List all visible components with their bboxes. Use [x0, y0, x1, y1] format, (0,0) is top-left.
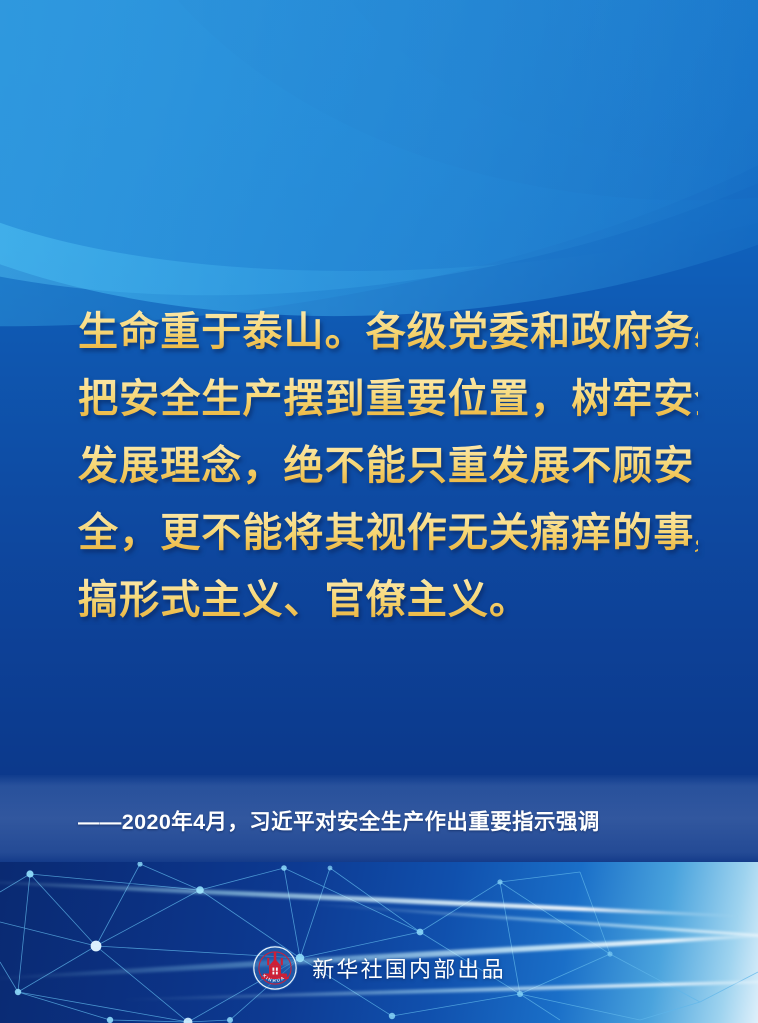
quote-line: 全，更不能将其视作无关痛痒的事,: [78, 499, 698, 566]
quote-block: 生命重于泰山。各级党委和政府务必 把安全生产摆到重要位置，树牢安全 发展理念，绝…: [78, 298, 698, 633]
attribution-band: ——2020年4月，习近平对安全生产作出重要指示强调: [0, 775, 758, 865]
quote-line: 搞形式主义、官僚主义。: [78, 566, 698, 633]
footer-text: 新华社国内部出品: [312, 952, 506, 984]
ribbon-dark-right: [282, 0, 758, 201]
poster-canvas: 生命重于泰山。各级党委和政府务必 把安全生产摆到重要位置，树牢安全 发展理念，绝…: [0, 0, 758, 1023]
quote-line: 发展理念，绝不能只重发展不顾安: [78, 432, 698, 499]
ribbon-dark-upper: [65, 0, 758, 222]
ribbon-mid-sweep: [0, 0, 758, 319]
attribution-text: ——2020年4月，习近平对安全生产作出重要指示强调: [78, 805, 600, 836]
quote-line: 把安全生产摆到重要位置，树牢安全: [78, 365, 698, 432]
xinhua-logo-icon: XINHUA: [252, 945, 298, 991]
quote-line: 生命重于泰山。各级党委和政府务必: [78, 298, 698, 365]
footer-branding: XINHUA 新华社国内部出品: [0, 940, 758, 996]
